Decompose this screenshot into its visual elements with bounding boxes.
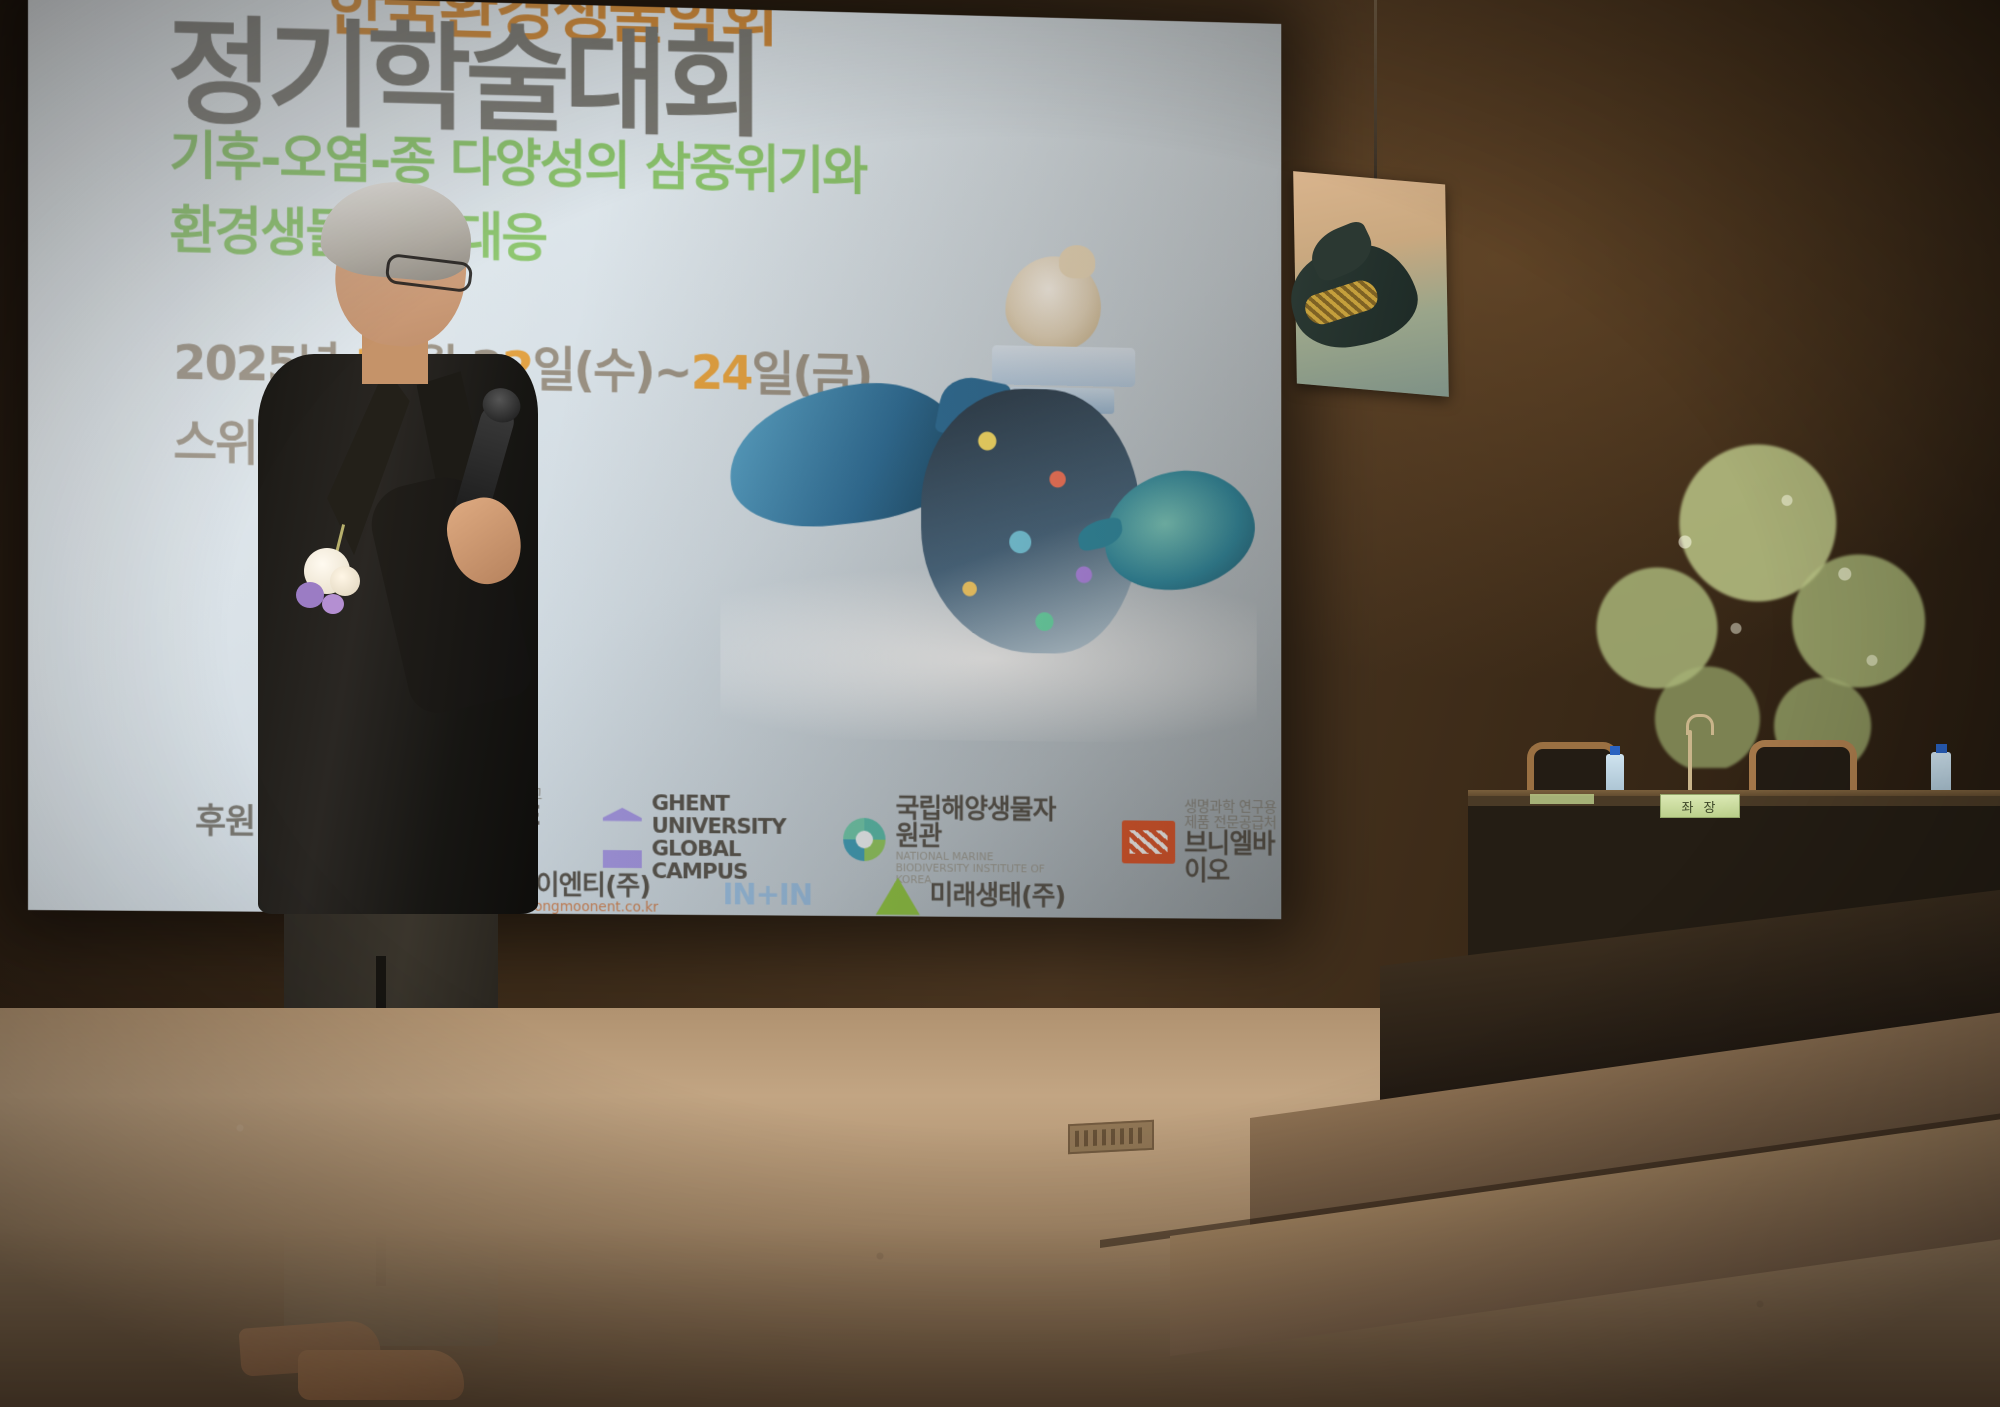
sponsor-bnlbio-small: 생명과학 연구용제품 전문공급처: [1184, 800, 1281, 832]
intin-wordmark-logo-icon: IN+IN: [722, 878, 812, 913]
hanging-whale-banner: [1293, 171, 1449, 397]
presentation-slide: 한국환경생물학회 정기학술대회 기후-오염-종 다양성의 삼중위기와 환경생물학…: [28, 0, 1281, 919]
ghent-pillar-logo-icon: [603, 807, 642, 868]
plant-highlight-specks: [1600, 430, 1940, 750]
sponsor-mirae-name: 미래생태(주): [930, 883, 1066, 912]
sponsor-section: 후원 상지대학교 RISE사업단 GHEN: [28, 782, 1281, 795]
chairperson-nameplate-text: 좌 장: [1681, 797, 1718, 816]
projection-screen: 한국환경생물학회 정기학술대회 기후-오염-종 다양성의 삼중위기와 환경생물학…: [28, 0, 1281, 919]
sponsor-bnlbio-name: 브니엘바이오: [1184, 831, 1281, 887]
sponsor-intin: IN+IN: [722, 878, 812, 913]
sponsor-ghent-name: GHENT UNIVERSITY: [651, 792, 785, 839]
slide-artwork: [720, 235, 1256, 666]
sponsor-nmbi-name: 국립해양생물자원관: [896, 795, 1065, 852]
sponsor-nmbi: 국립해양생물자원관 NATIONAL MARINE BIODIVERSITY I…: [844, 795, 1065, 886]
table-notepad: [1530, 794, 1594, 804]
polar-bear-icon: [1005, 255, 1100, 351]
table-microphone-icon: [1688, 730, 1692, 792]
bnlbio-square-logo-icon: [1121, 821, 1174, 864]
mirae-mountain-logo-icon: [876, 877, 920, 915]
sponsor-bnlbio: 생명과학 연구용제품 전문공급처 브니엘바이오: [1121, 799, 1281, 886]
floor-vent-grate: [1068, 1120, 1154, 1155]
nmbi-circle-logo-icon: [844, 818, 886, 862]
sponsor-mirae: 미래생태(주): [876, 877, 1066, 916]
photo-scene: 한국환경생물학회 정기학술대회 기후-오염-종 다양성의 삼중위기와 환경생물학…: [0, 0, 2000, 1407]
boutonniere-corsage: [294, 526, 368, 612]
ice-floe-icon: [992, 345, 1135, 387]
chairperson-nameplate: 좌 장: [1660, 794, 1740, 818]
banner-hanging-cord: [1374, 0, 1377, 182]
